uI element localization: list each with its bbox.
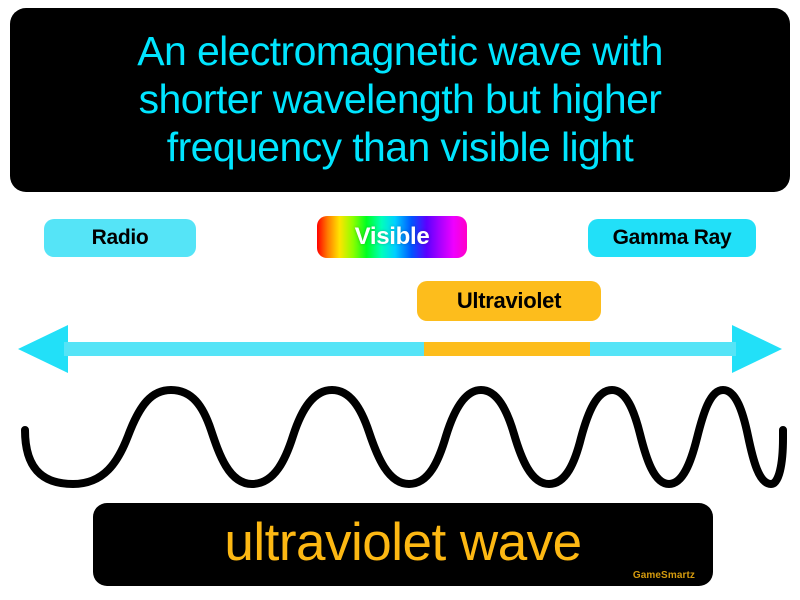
spectrum-band-label-ultraviolet: Ultraviolet xyxy=(457,288,561,314)
wave-path xyxy=(25,390,783,484)
spectrum-bar-ultraviolet-segment xyxy=(424,342,592,356)
spectrum-band-label-visible: Visible xyxy=(355,223,430,251)
left-arrow-head-icon xyxy=(18,325,68,373)
definition-panel: An electromagnetic wave with shorter wav… xyxy=(10,8,790,192)
spectrum-band-badge-radio[interactable]: Radio xyxy=(44,219,196,257)
spectrum-band-badge-visible[interactable]: Visible xyxy=(317,216,467,258)
right-arrow-head-icon xyxy=(732,325,782,373)
spectrum-band-label-radio: Radio xyxy=(92,226,149,250)
spectrum-band-label-gamma-ray: Gamma Ray xyxy=(613,226,732,250)
definition-text: An electromagnetic wave with shorter wav… xyxy=(137,28,663,172)
spectrum-band-badge-gamma-ray[interactable]: Gamma Ray xyxy=(588,219,756,257)
spectrum-band-badge-ultraviolet[interactable]: Ultraviolet xyxy=(417,281,601,321)
chirp-wave-illustration xyxy=(0,378,800,496)
term-title: ultraviolet wave xyxy=(224,516,581,573)
watermark-label: GameSmartz xyxy=(633,570,695,581)
electromagnetic-spectrum-axis xyxy=(0,322,800,376)
spectrum-bar-low-frequency xyxy=(64,342,426,356)
term-plate: ultraviolet wave GameSmartz xyxy=(93,503,713,586)
spectrum-bar-high-frequency xyxy=(590,342,736,356)
